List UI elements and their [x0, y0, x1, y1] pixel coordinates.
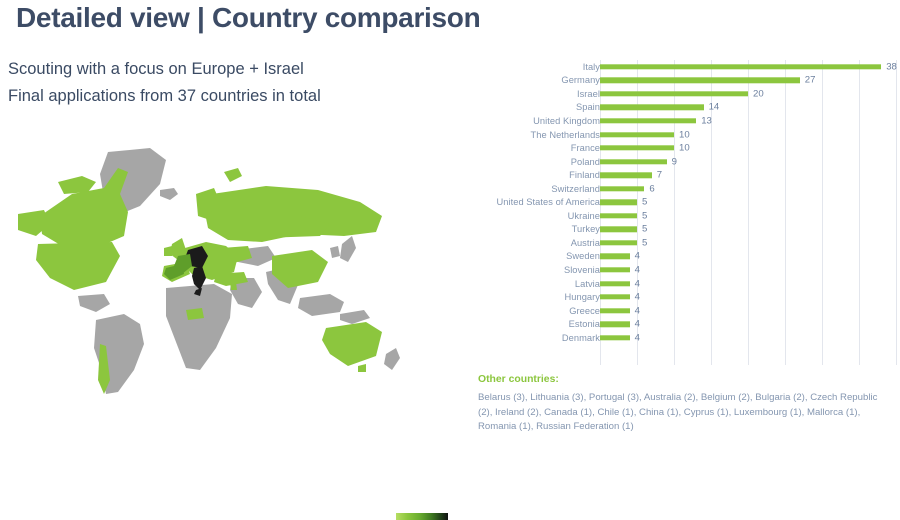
chart-value-label: 6	[649, 183, 654, 194]
chart-row: Spain14	[466, 101, 896, 115]
chart-bar[interactable]	[600, 186, 644, 191]
chart-category-label: Greece	[569, 306, 600, 316]
chart-category-label: Finland	[569, 170, 600, 180]
chart-plot-area: 7	[600, 168, 896, 182]
world-map-svg	[0, 132, 460, 400]
chart-row: Finland7	[466, 168, 896, 182]
chart-row: Italy38	[466, 60, 896, 74]
chart-bar[interactable]	[600, 213, 637, 218]
chart-bar[interactable]	[600, 91, 748, 96]
chart-row: Hungary4	[466, 290, 896, 304]
chart-row: Slovenia4	[466, 263, 896, 277]
chart-category-label: Italy	[583, 62, 600, 72]
chart-row: Switzerland6	[466, 182, 896, 196]
chart-bar[interactable]	[600, 172, 652, 177]
gridline	[896, 60, 897, 365]
chart-value-label: 4	[635, 292, 640, 303]
chart-value-label: 14	[709, 102, 720, 113]
chart-value-label: 27	[805, 75, 816, 86]
chart-value-label: 4	[635, 305, 640, 316]
chart-row: Turkey5	[466, 223, 896, 237]
chart-category-label: Spain	[576, 102, 600, 112]
chart-plot-area: 5	[600, 236, 896, 250]
chart-bar[interactable]	[600, 240, 637, 245]
chart-row: Estonia4	[466, 317, 896, 331]
chart-bar[interactable]	[600, 159, 667, 164]
chart-value-label: 9	[672, 156, 677, 167]
chart-plot-area: 4	[600, 250, 896, 264]
chart-value-label: 4	[635, 319, 640, 330]
chart-value-label: 7	[657, 170, 662, 181]
chart-plot-area: 4	[600, 290, 896, 304]
chart-bar[interactable]	[600, 105, 704, 110]
chart-value-label: 5	[642, 224, 647, 235]
chart-bar[interactable]	[600, 118, 696, 123]
chart-bar[interactable]	[600, 335, 630, 340]
chart-category-label: Israel	[577, 89, 600, 99]
chart-category-label: Hungary	[565, 292, 601, 302]
chart-category-label: France	[571, 143, 600, 153]
chart-bar[interactable]	[600, 281, 630, 286]
chart-value-label: 10	[679, 129, 690, 140]
chart-value-label: 38	[886, 61, 897, 72]
chart-bar[interactable]	[600, 321, 630, 326]
page-title: Detailed view | Country comparison	[16, 2, 480, 34]
chart-category-label: Slovenia	[564, 265, 600, 275]
chart-row: Poland9	[466, 155, 896, 169]
chart-plot-area: 27	[600, 74, 896, 88]
chart-row: Ukraine5	[466, 209, 896, 223]
chart-value-label: 5	[642, 210, 647, 221]
chart-value-label: 13	[701, 115, 712, 126]
chart-plot-area: 4	[600, 317, 896, 331]
chart-bar[interactable]	[600, 200, 637, 205]
chart-row: Austria5	[466, 236, 896, 250]
chart-row: United Kingdom13	[466, 114, 896, 128]
chart-category-label: The Netherlands	[531, 130, 600, 140]
chart-plot-area: 13	[600, 114, 896, 128]
chart-row: Israel20	[466, 87, 896, 101]
chart-category-label: United States of America	[496, 197, 600, 207]
chart-value-label: 4	[635, 251, 640, 262]
subtitle-line-1: Scouting with a focus on Europe + Israel	[8, 56, 438, 83]
chart-value-label: 4	[635, 332, 640, 343]
chart-bar[interactable]	[600, 64, 881, 69]
chart-plot-area: 10	[600, 141, 896, 155]
chart-plot-area: 20	[600, 87, 896, 101]
chart-rows: Italy38Germany27Israel20Spain14United Ki…	[466, 60, 896, 344]
map-legend-gradient	[396, 513, 448, 520]
chart-row: Denmark4	[466, 331, 896, 345]
chart-value-label: 4	[635, 264, 640, 275]
chart-plot-area: 4	[600, 263, 896, 277]
slide-canvas: Detailed view | Country comparison Scout…	[0, 0, 900, 454]
subtitle-block: Scouting with a focus on Europe + Israel…	[8, 56, 438, 109]
chart-category-label: Austria	[571, 238, 600, 248]
chart-row: Sweden4	[466, 250, 896, 264]
chart-value-label: 4	[635, 278, 640, 289]
chart-row: Germany27	[466, 74, 896, 88]
chart-category-label: Denmark	[562, 333, 600, 343]
chart-bar[interactable]	[600, 78, 800, 83]
chart-bar[interactable]	[600, 294, 630, 299]
chart-row: France10	[466, 141, 896, 155]
subtitle-line-2: Final applications from 37 countries in …	[8, 83, 438, 110]
chart-category-label: Latvia	[575, 279, 600, 289]
chart-bar[interactable]	[600, 227, 637, 232]
chart-category-label: Sweden	[566, 251, 600, 261]
chart-value-label: 5	[642, 237, 647, 248]
chart-category-label: Poland	[571, 157, 600, 167]
chart-category-label: United Kingdom	[533, 116, 600, 126]
chart-row: United States of America5	[466, 195, 896, 209]
chart-category-label: Ukraine	[568, 211, 600, 221]
chart-row: Latvia4	[466, 277, 896, 291]
chart-plot-area: 38	[600, 60, 896, 74]
chart-plot-area: 4	[600, 277, 896, 291]
chart-category-label: Estonia	[569, 319, 600, 329]
country-bar-chart: Italy38Germany27Israel20Spain14United Ki…	[466, 60, 896, 365]
chart-plot-area: 4	[600, 304, 896, 318]
chart-plot-area: 10	[600, 128, 896, 142]
chart-value-label: 10	[679, 143, 690, 154]
chart-row: The Netherlands10	[466, 128, 896, 142]
world-map	[0, 132, 460, 400]
chart-plot-area: 5	[600, 223, 896, 237]
chart-bar[interactable]	[600, 145, 674, 150]
chart-plot-area: 5	[600, 195, 896, 209]
other-countries-text: Belarus (3), Lithuania (3), Portugal (3)…	[478, 391, 893, 435]
other-countries-note: Other countries: Belarus (3), Lithuania …	[478, 374, 893, 435]
chart-plot-area: 9	[600, 155, 896, 169]
chart-category-label: Turkey	[572, 224, 600, 234]
chart-row: Greece4	[466, 304, 896, 318]
chart-bar[interactable]	[600, 132, 674, 137]
chart-plot-area: 14	[600, 101, 896, 115]
chart-plot-area: 6	[600, 182, 896, 196]
chart-category-label: Switzerland	[551, 184, 600, 194]
other-countries-title: Other countries:	[478, 374, 893, 385]
chart-value-label: 5	[642, 197, 647, 208]
chart-bar[interactable]	[600, 254, 630, 259]
chart-plot-area: 4	[600, 331, 896, 345]
chart-plot-area: 5	[600, 209, 896, 223]
chart-category-label: Germany	[561, 75, 600, 85]
chart-bar[interactable]	[600, 267, 630, 272]
chart-bar[interactable]	[600, 308, 630, 313]
chart-value-label: 20	[753, 88, 764, 99]
